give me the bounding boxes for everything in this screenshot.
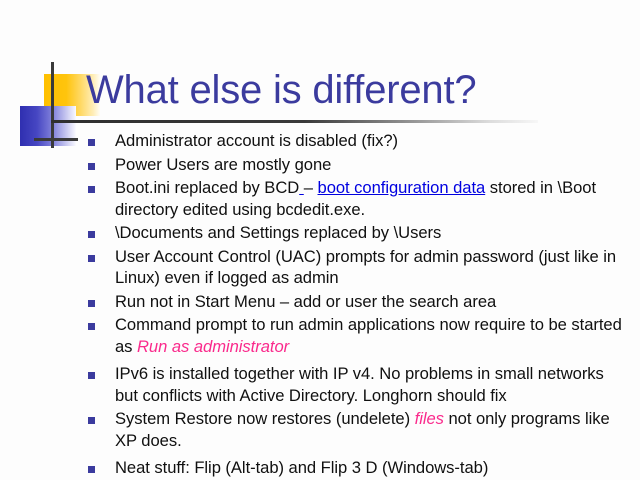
list-item: \Documents and Settings replaced by \Use… <box>88 222 622 244</box>
bullet-square-icon <box>88 417 95 424</box>
list-item: Administrator account is disabled (fix?) <box>88 130 622 152</box>
list-item: Run not in Start Menu – add or user the … <box>88 291 622 313</box>
list-item: Neat stuff: Flip (Alt-tab) and Flip 3 D … <box>88 457 622 479</box>
page-title: What else is different? <box>86 67 476 113</box>
list-item-text: Boot.ini replaced by BCD – boot configur… <box>115 177 622 220</box>
text-run: \Documents and Settings replaced by \Use… <box>115 223 441 242</box>
list-item-text: IPv6 is installed together with IP v4. N… <box>115 363 622 406</box>
text-run: User Account Control (UAC) prompts for a… <box>115 247 616 288</box>
title-divider <box>51 120 538 123</box>
bullet-square-icon <box>88 255 95 262</box>
bullet-square-icon <box>88 300 95 307</box>
list-item: IPv6 is installed together with IP v4. N… <box>88 363 622 406</box>
list-item: Power Users are mostly gone <box>88 154 622 176</box>
list-item-text: System Restore now restores (undelete) f… <box>115 408 622 451</box>
bullet-square-icon <box>88 231 95 238</box>
emphasis-text: files <box>415 409 444 428</box>
bullet-square-icon <box>88 163 95 170</box>
bullet-square-icon <box>88 466 95 473</box>
list-item-text: Neat stuff: Flip (Alt-tab) and Flip 3 D … <box>115 457 622 479</box>
text-run: System Restore now restores (undelete) <box>115 409 415 428</box>
presentation-slide: What else is different? Administrator ac… <box>0 0 640 480</box>
text-run: Boot.ini replaced by BCD <box>115 178 299 197</box>
list-item-text: Run not in Start Menu – add or user the … <box>115 291 622 313</box>
list-item: Command prompt to run admin applications… <box>88 314 622 357</box>
text-run: Power Users are mostly gone <box>115 155 331 174</box>
emphasis-text: Run as administrator <box>137 337 289 356</box>
text-run: IPv6 is installed together with IP v4. N… <box>115 364 604 405</box>
text-run: Neat stuff: Flip (Alt-tab) and Flip 3 D … <box>115 458 488 477</box>
vertical-rule-icon <box>51 62 54 148</box>
hyperlink[interactable]: boot configuration data <box>318 178 486 197</box>
bullet-square-icon <box>88 372 95 379</box>
list-item-text: Command prompt to run admin applications… <box>115 314 622 357</box>
list-item-text: \Documents and Settings replaced by \Use… <box>115 222 622 244</box>
text-run: Administrator account is disabled (fix?) <box>115 131 398 150</box>
list-item: System Restore now restores (undelete) f… <box>88 408 622 451</box>
list-item-text: Power Users are mostly gone <box>115 154 622 176</box>
bullet-square-icon <box>88 186 95 193</box>
list-item: Boot.ini replaced by BCD – boot configur… <box>88 177 622 220</box>
bullet-square-icon <box>88 139 95 146</box>
list-item-text: Administrator account is disabled (fix?) <box>115 130 622 152</box>
text-run: Run not in Start Menu – add or user the … <box>115 292 496 311</box>
bullet-list: Administrator account is disabled (fix?)… <box>88 130 622 480</box>
horizontal-rule-icon <box>34 138 78 141</box>
list-item-text: User Account Control (UAC) prompts for a… <box>115 246 622 289</box>
bullet-square-icon <box>88 323 95 330</box>
text-run: – <box>304 178 318 197</box>
list-item: User Account Control (UAC) prompts for a… <box>88 246 622 289</box>
